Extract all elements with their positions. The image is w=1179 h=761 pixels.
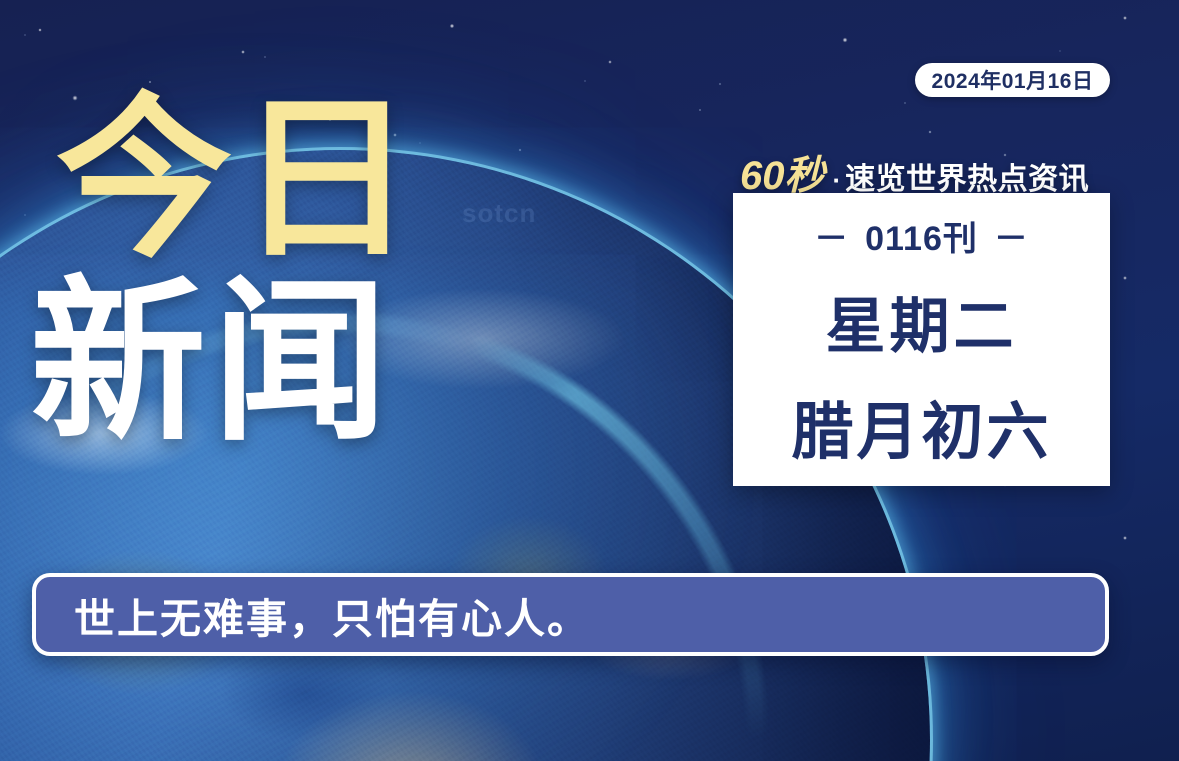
date-badge-label: 2024年01月16日	[932, 65, 1094, 95]
headline-line-xinwen: 新闻	[0, 279, 520, 448]
lunar-date-label: 腊月初六	[791, 381, 1051, 471]
headline-line-jinri: 今日	[0, 96, 520, 265]
tagline-subtitle: 速览世界热点资讯	[845, 154, 1089, 198]
issue-dash-left: －	[814, 211, 849, 260]
issue-info-card: － 0116刊 － 星期二 腊月初六	[733, 193, 1110, 486]
issue-number: 0116刊	[865, 211, 978, 260]
issue-dash-right: －	[994, 211, 1029, 260]
news-poster: sotcn 今日 新闻 2024年01月16日 60秒 · 速览世界热点资讯 －…	[0, 0, 1179, 761]
headline: 今日 新闻	[0, 96, 520, 448]
tagline-separator-dot: ·	[833, 165, 842, 196]
quote-text: 世上无难事，只怕有心人。	[74, 585, 590, 645]
quote-bar: 世上无难事，只怕有心人。	[32, 573, 1109, 656]
weekday-label: 星期二	[826, 278, 1018, 365]
issue-row: － 0116刊 －	[814, 211, 1029, 260]
date-badge: 2024年01月16日	[915, 63, 1110, 97]
